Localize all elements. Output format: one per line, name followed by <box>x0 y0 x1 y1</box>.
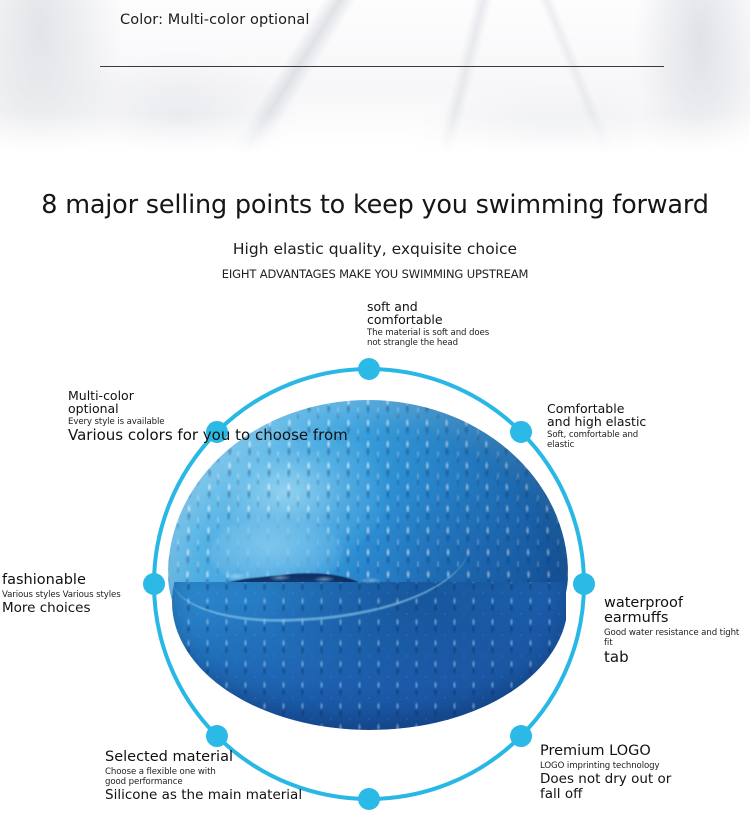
callout-extra: Various colors for you to choose from <box>68 427 348 443</box>
callout-extra: tab <box>604 649 750 665</box>
callout-comfortable-and-high-elastic: Comfortable and high elastic Soft, comfo… <box>547 402 646 450</box>
callout-description: Choose a flexible one with good performa… <box>105 767 302 787</box>
callout-fashionable: fashionable Various styles Various style… <box>2 573 121 616</box>
callout-multi-color-extra: Various colors for you to choose from <box>68 426 348 443</box>
callout-description: The material is soft and does not strang… <box>367 328 489 348</box>
callout-extra: More choices <box>2 601 121 616</box>
callout-description: Good water resistance and tight fit <box>604 628 750 648</box>
callout-selected-material: Selected material Choose a flexible one … <box>105 750 302 803</box>
callout-multi-color-optional: Multi-color optional Every style is avai… <box>68 389 164 427</box>
callout-soft-and-comfortable: soft and comfortable The material is sof… <box>367 300 489 348</box>
callout-title: Comfortable and high elastic <box>547 402 646 428</box>
callout-description: Soft, comfortable and elastic <box>547 430 646 450</box>
callout-description: LOGO imprinting technology <box>540 761 671 771</box>
ring-dot <box>573 573 595 595</box>
callout-title: fashionable <box>2 573 121 588</box>
callout-extra: Does not dry out or fall off <box>540 772 671 801</box>
callout-title: waterproof earmuffs <box>604 596 750 626</box>
callout-title: Selected material <box>105 750 302 765</box>
ring-dot <box>358 788 380 810</box>
ring-dot <box>143 573 165 595</box>
selling-points-diagram: soft and comfortable The material is sof… <box>0 0 750 827</box>
callout-title: Premium LOGO <box>540 744 671 759</box>
callout-description: Various styles Various styles <box>2 590 121 600</box>
callout-waterproof-earmuffs: waterproof earmuffs Good water resistanc… <box>604 596 750 665</box>
callout-extra: Silicone as the main material <box>105 788 302 803</box>
callout-premium-logo: Premium LOGO LOGO imprinting technology … <box>540 744 671 801</box>
ring-dot <box>358 358 380 380</box>
product-infographic-page: Color: Multi-color optional 8 major sell… <box>0 0 750 827</box>
callout-title: Multi-color optional <box>68 389 164 415</box>
swim-cap-image <box>168 400 568 730</box>
callout-title: soft and comfortable <box>367 300 489 326</box>
